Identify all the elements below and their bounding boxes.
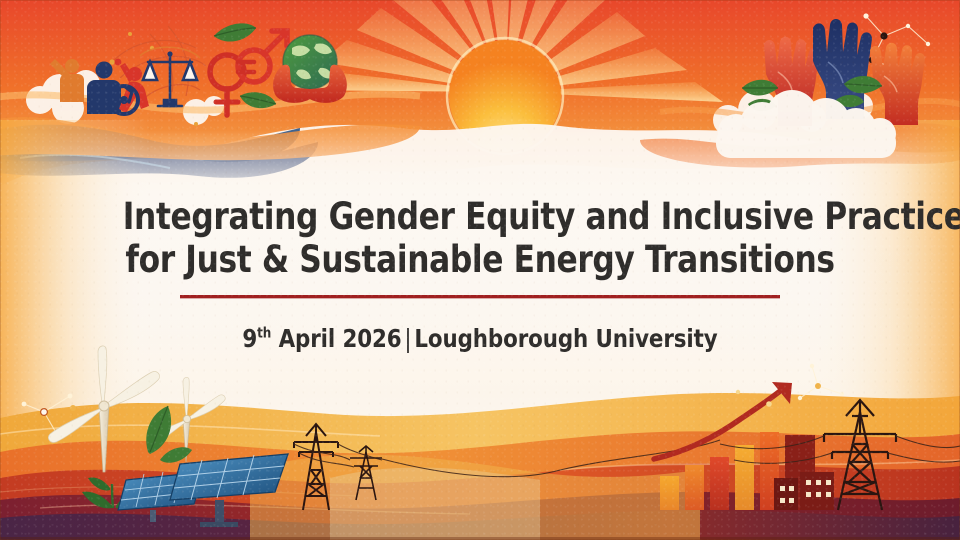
title-underline-rule — [180, 295, 780, 298]
city-buildings — [774, 435, 834, 510]
event-venue: Loughborough University — [414, 324, 717, 353]
event-date-rest: April 2026 — [271, 324, 401, 353]
event-separator: | — [402, 324, 415, 353]
slide-content: Integrating Gender Equity and Inclusive … — [0, 196, 960, 353]
event-day: 9 — [242, 324, 257, 353]
event-date-venue: 9th April 2026|Loughborough University — [24, 324, 936, 353]
power-lines-right — [720, 436, 960, 463]
page-title: Integrating Gender Equity and Inclusive … — [123, 196, 837, 282]
event-day-suffix: th — [257, 325, 271, 341]
title-slide: Integrating Gender Equity and Inclusive … — [0, 0, 960, 540]
transmission-tower — [824, 400, 896, 510]
title-line-1: Integrating Gender Equity and Inclusive … — [123, 196, 837, 239]
title-line-2: for Just & Sustainable Energy Transition… — [123, 239, 837, 282]
